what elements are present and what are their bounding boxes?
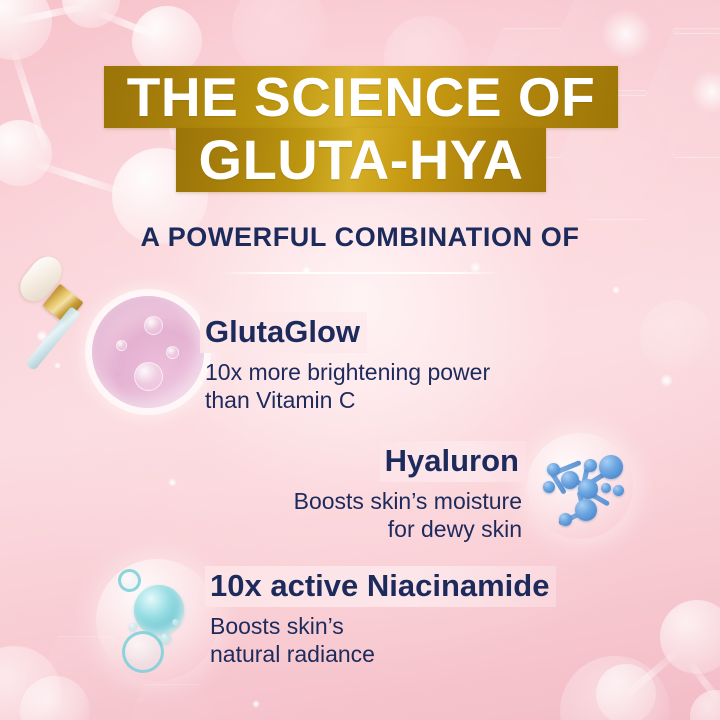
- ingredient-block-hyaluron: Hyaluron Boosts skin’s moisture for dewy…: [268, 441, 526, 543]
- molecule-atom: [561, 471, 579, 489]
- molecule-node: [0, 120, 52, 186]
- subtitle-text: A POWERFUL COMBINATION OF: [0, 222, 720, 253]
- serum-bubble: [144, 316, 163, 335]
- title-line1-text: THE SCIENCE OF: [127, 70, 595, 125]
- sparkle: [660, 374, 673, 387]
- water-droplet-ring: [118, 569, 141, 592]
- ingredient-block-niacinamide: 10x active Niacinamide Boosts skin’s nat…: [205, 566, 556, 668]
- ingredient-description-glutaglow: 10x more brightening power than Vitamin …: [200, 358, 490, 414]
- molecule-atom: [547, 463, 560, 476]
- poster-canvas: THE SCIENCE OF GLUTA-HYA A POWERFUL COMB…: [0, 0, 720, 720]
- molecule-atom: [578, 479, 598, 499]
- water-droplet: [129, 623, 137, 631]
- subtitle-divider: [220, 272, 502, 274]
- molecule-node: [660, 600, 720, 674]
- serum-blob-illustration: [92, 296, 204, 408]
- molecule-bond: [13, 3, 85, 25]
- ingredient-heading-glutaglow: GlutaGlow: [200, 312, 367, 353]
- ingredient-heading-hyaluron: Hyaluron: [380, 441, 526, 482]
- sparkle: [168, 478, 177, 487]
- molecule-atom: [575, 499, 597, 521]
- molecule-atom: [601, 483, 611, 493]
- hexagon-shape: [116, 684, 228, 720]
- ingredient-description-niacinamide: Boosts skin’s natural radiance: [205, 612, 556, 668]
- water-droplet: [134, 585, 184, 635]
- bokeh-circle: [20, 676, 90, 720]
- bokeh-circle: [640, 300, 712, 372]
- title-banner-line2: GLUTA-HYA: [176, 128, 546, 192]
- molecule-atom: [584, 459, 597, 472]
- molecule-node: [690, 690, 720, 720]
- water-droplet: [172, 619, 179, 626]
- ingredient-description-hyaluron: Boosts skin’s moisture for dewy skin: [268, 487, 526, 543]
- hexagon-glow: [600, 8, 652, 60]
- water-droplet: [160, 633, 171, 644]
- molecule-bond: [11, 50, 50, 151]
- title-banner-line1: THE SCIENCE OF: [104, 66, 618, 128]
- molecule-atom: [599, 455, 623, 479]
- molecule-node: [62, 0, 120, 28]
- molecule-bond: [626, 651, 678, 696]
- water-droplet-ring: [122, 631, 164, 673]
- dropper-pipette-icon: [25, 306, 81, 371]
- serum-bubble: [134, 362, 163, 391]
- molecule-node: [596, 664, 656, 720]
- hexagon-shape: [646, 28, 720, 158]
- molecule-atom: [613, 485, 624, 496]
- molecule-atom: [559, 513, 572, 526]
- bokeh-circle: [232, 0, 328, 76]
- sparkle: [612, 286, 620, 294]
- molecule-node: [0, 0, 52, 60]
- title-line2-text: GLUTA-HYA: [199, 132, 524, 188]
- bokeh-circle: [0, 646, 62, 720]
- molecule-atom: [543, 481, 555, 493]
- serum-bubble: [166, 346, 179, 359]
- sparkle: [252, 700, 260, 708]
- water-bubble-illustration: [96, 559, 218, 681]
- bokeh-circle: [560, 656, 670, 720]
- serum-bubble: [116, 340, 127, 351]
- molecule-bond: [99, 10, 161, 40]
- molecule-bond: [33, 160, 126, 196]
- molecule-bubble-illustration: [527, 433, 633, 539]
- molecule-bond: [687, 661, 720, 703]
- ingredient-block-glutaglow: GlutaGlow 10x more brightening power tha…: [200, 312, 490, 414]
- ingredient-heading-niacinamide: 10x active Niacinamide: [205, 566, 556, 607]
- hexagon-glow: [690, 70, 720, 114]
- hexagon-shape: [646, 0, 720, 34]
